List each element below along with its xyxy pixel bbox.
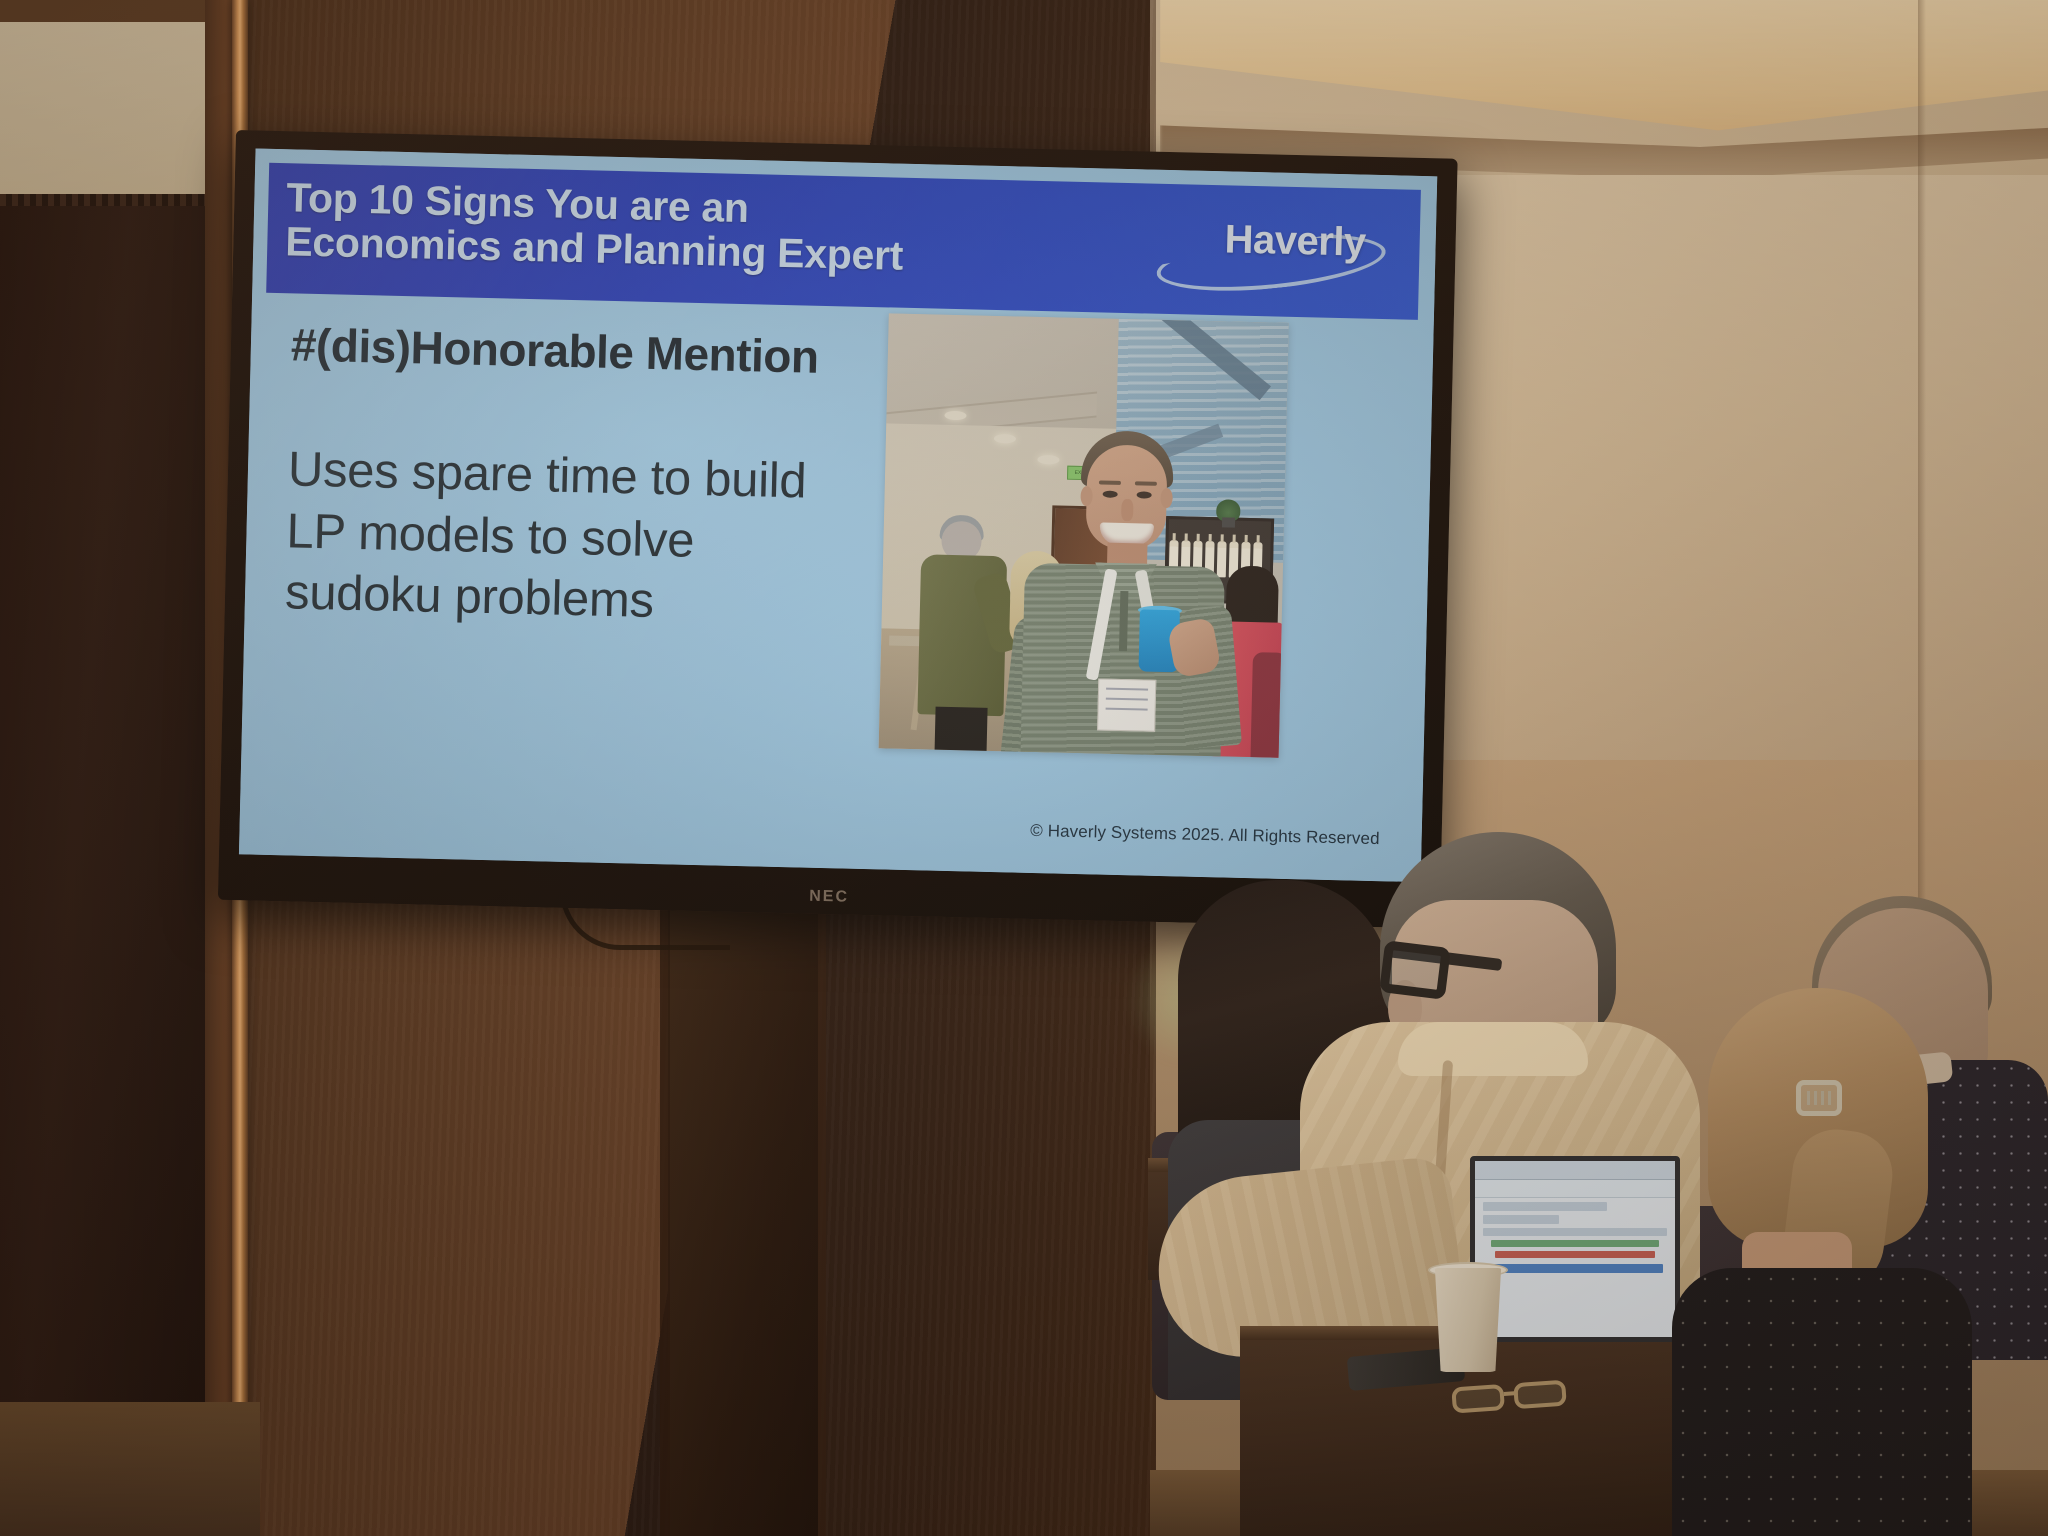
wall-display[interactable]: Top 10 Signs You are an Economics and Pl…	[218, 130, 1458, 929]
photo-subject-placket	[1119, 591, 1128, 651]
logo-wordmark: Haverly	[1224, 217, 1366, 265]
photo-downlight	[1037, 455, 1059, 465]
photo-downlight	[994, 434, 1016, 444]
slide-copyright: © Haverly Systems 2025. All Rights Reser…	[1030, 821, 1380, 849]
photo-subject-eye	[1137, 491, 1152, 498]
photo-subject-name-badge	[1097, 678, 1156, 731]
left-beige-wall	[0, 18, 222, 208]
photo-bg-person-legs	[934, 707, 988, 758]
haverly-logo: Haverly	[1155, 212, 1392, 296]
wood-dark-column	[668, 900, 818, 1536]
display-screen: Top 10 Signs You are an Economics and Pl…	[239, 148, 1437, 882]
coffee-cup[interactable]	[1432, 1268, 1504, 1372]
wood-seam	[660, 880, 670, 1536]
left-top-trim	[0, 0, 240, 22]
presentation-slide: Top 10 Signs You are an Economics and Pl…	[239, 148, 1437, 882]
photo-subject-nose	[1121, 499, 1134, 521]
slide-body-text: Uses spare time to build LP models to so…	[284, 439, 868, 638]
laptop-content-row	[1483, 1228, 1667, 1237]
slide-title-bar: Top 10 Signs You are an Economics and Pl…	[266, 163, 1421, 320]
display-bezel: Top 10 Signs You are an Economics and Pl…	[218, 130, 1458, 929]
photo-plant-pot	[1222, 517, 1235, 527]
eyeglasses-lens-right	[1513, 1380, 1567, 1410]
slide-heading: #(dis)Honorable Mention	[290, 317, 819, 383]
photo-window-beam	[1159, 319, 1271, 400]
laptop-status-green	[1491, 1240, 1659, 1247]
audience-woman-blonde-top	[1672, 1268, 1972, 1536]
laptop-content-row	[1483, 1202, 1607, 1211]
eyeglasses-lens-icon	[1379, 940, 1451, 1000]
photo-scene: Top 10 Signs You are an Economics and Pl…	[0, 0, 2048, 1536]
photo-subject-eyebrow	[1135, 481, 1157, 486]
laptop-screen[interactable]	[1470, 1156, 1680, 1342]
eyeglasses-lens-left	[1451, 1384, 1505, 1414]
nec-brand-logo: NEC	[809, 888, 849, 907]
slide-title: Top 10 Signs You are an Economics and Pl…	[267, 163, 905, 278]
laptop-status-red	[1495, 1251, 1655, 1258]
photo-subject-eyebrow	[1099, 480, 1121, 485]
slide-photo: EXIT	[879, 313, 1289, 757]
hair-clip-icon	[1796, 1080, 1842, 1116]
photo-downlight	[944, 411, 966, 421]
floor-left	[0, 1402, 260, 1536]
laptop-toolbar	[1475, 1180, 1675, 1198]
audience-man-tan-collar	[1398, 1022, 1588, 1076]
laptop-accent-bar	[1487, 1264, 1663, 1273]
photo-bg-person3-body	[1250, 652, 1287, 758]
laptop-content-row	[1483, 1215, 1559, 1224]
laptop-titlebar	[1475, 1161, 1675, 1180]
wood-seam	[818, 880, 826, 1536]
photo-subject-eye	[1103, 491, 1118, 498]
dark-curtain	[0, 200, 210, 1536]
